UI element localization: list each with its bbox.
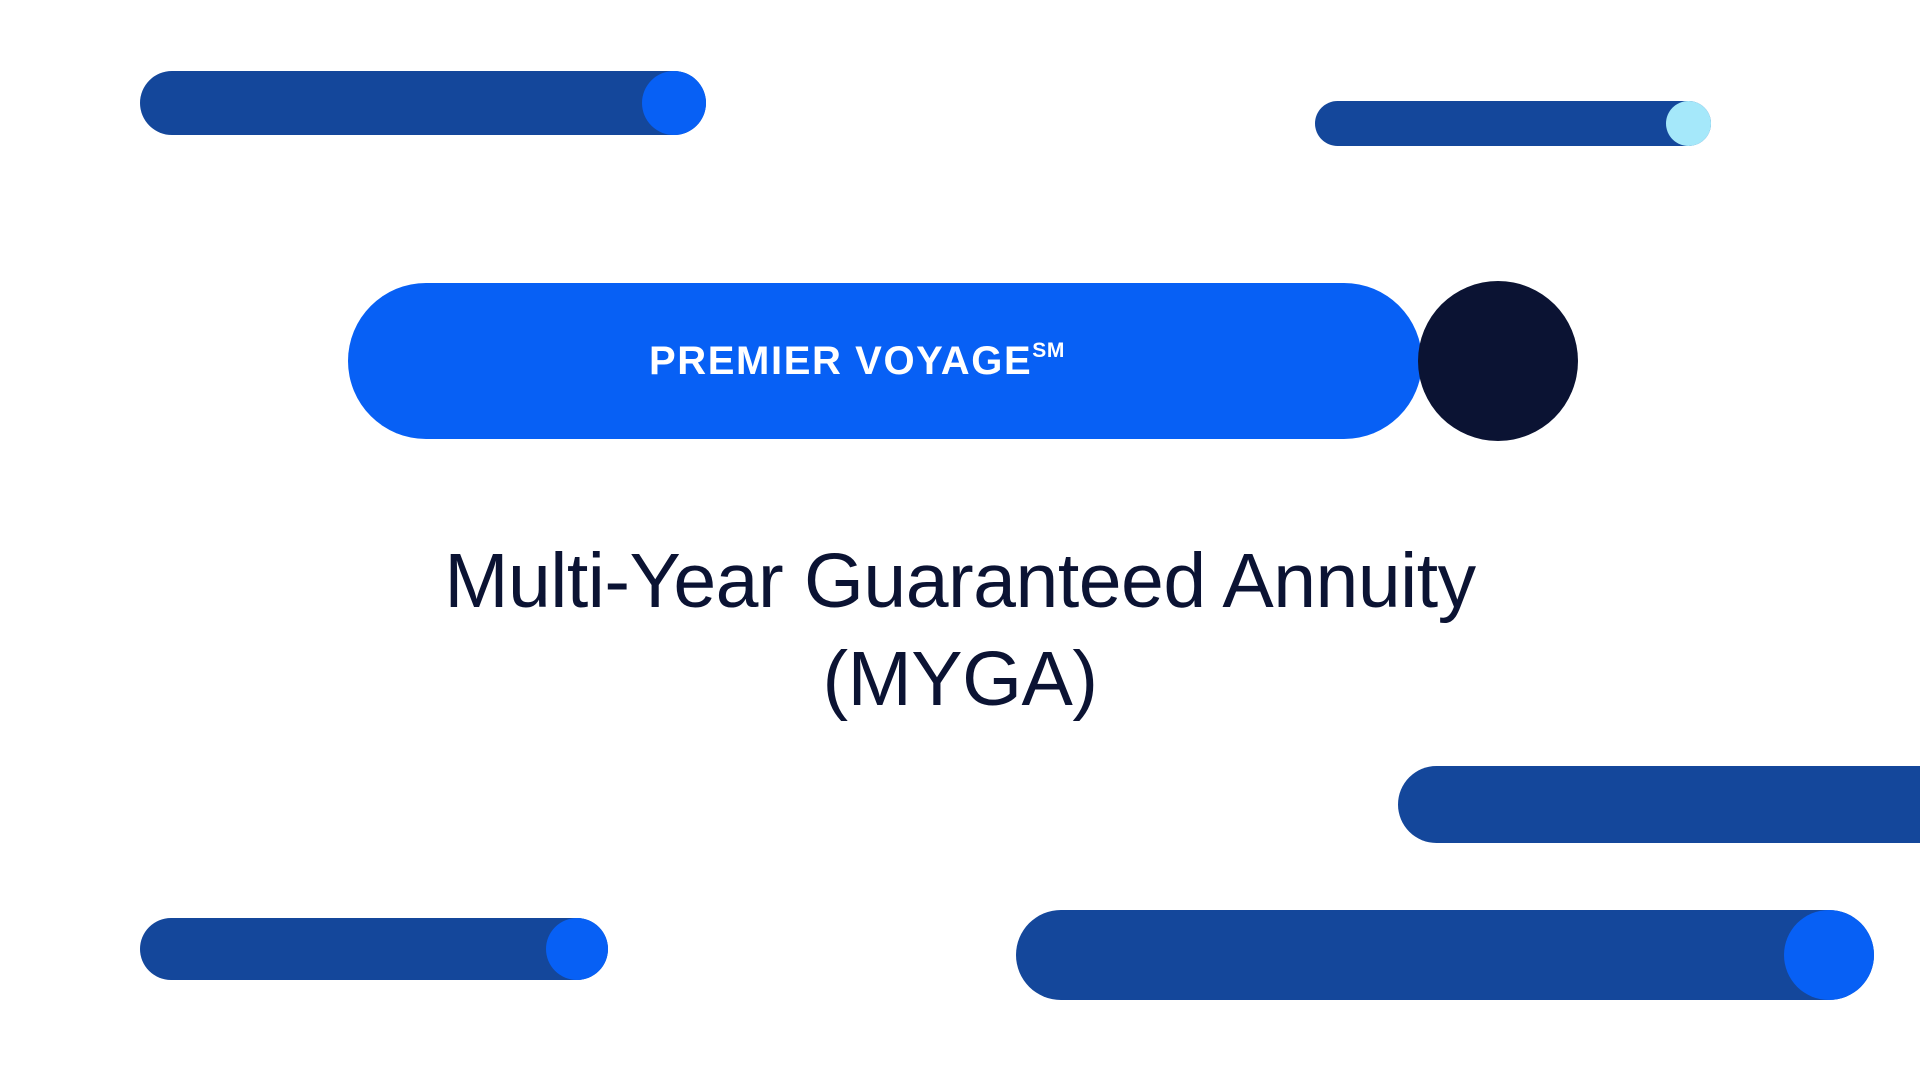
decoration-pill-bottom-right	[1016, 910, 1874, 1000]
decoration-pill-top-right	[1315, 101, 1711, 146]
decoration-dot-bottom-left	[546, 918, 608, 980]
page-title: Multi-Year Guaranteed Annuity (MYGA)	[0, 532, 1920, 729]
decoration-dot-top-left	[642, 71, 706, 135]
product-badge-name: PREMIER VOYAGE	[649, 339, 1032, 383]
decoration-dot-bottom-right	[1784, 910, 1874, 1000]
page-title-line-1: Multi-Year Guaranteed Annuity	[0, 532, 1920, 631]
decoration-dot-top-right	[1666, 101, 1711, 146]
decoration-pill-mid-right	[1398, 766, 1920, 843]
slide-canvas: PREMIER VOYAGESM Multi-Year Guaranteed A…	[0, 0, 1920, 1080]
product-badge-endcap-circle	[1418, 281, 1578, 441]
product-badge-label: PREMIER VOYAGESM	[649, 339, 1065, 384]
service-mark-superscript: SM	[1032, 339, 1065, 362]
product-badge: PREMIER VOYAGESM	[348, 283, 1422, 439]
decoration-pill-top-left	[140, 71, 706, 135]
page-title-line-2: (MYGA)	[0, 630, 1920, 729]
decoration-pill-bottom-left	[140, 918, 608, 980]
